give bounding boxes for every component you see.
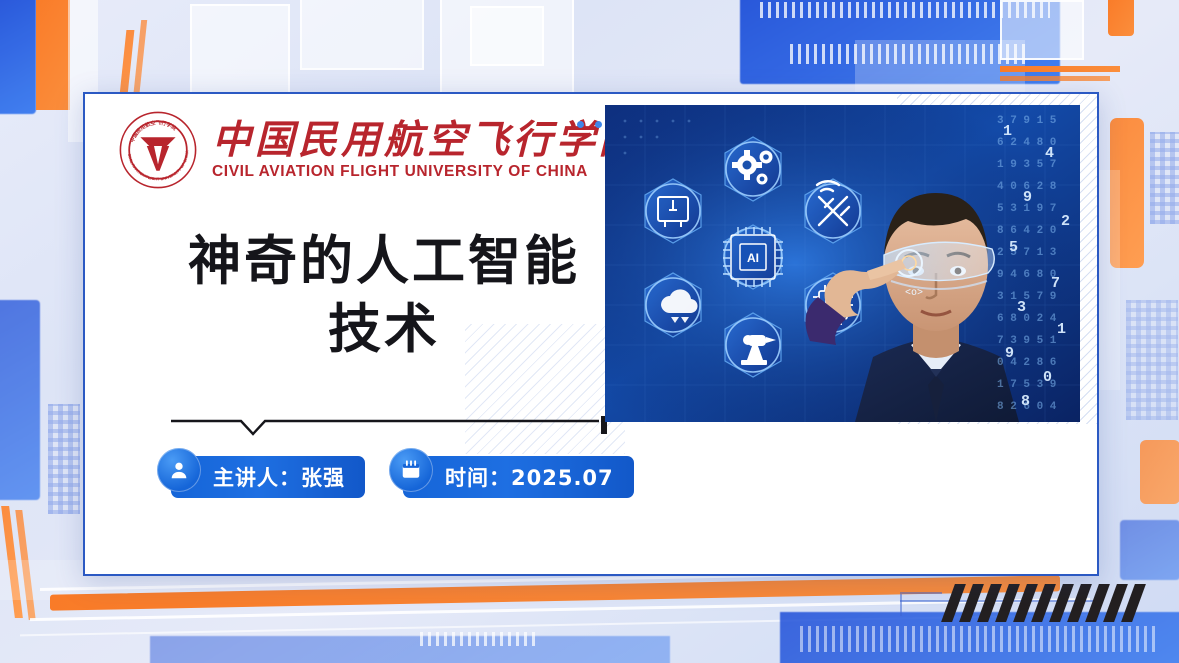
bg-block bbox=[0, 300, 40, 500]
svg-text:9: 9 bbox=[1023, 189, 1032, 206]
svg-text:5: 5 bbox=[1009, 239, 1018, 256]
university-logo-row: 1956 中国民用航空飞行学院 CIVIL AVIATION FLIGHT UN… bbox=[118, 110, 642, 190]
bg-pads bbox=[800, 626, 1160, 652]
info-badges: 主讲人：张强 时间：2025.07 bbox=[171, 456, 634, 498]
hero-image: AI bbox=[605, 105, 1080, 422]
bg-block bbox=[1108, 0, 1134, 36]
svg-text:8 6 4 2 0: 8 6 4 2 0 bbox=[997, 225, 1056, 237]
ai-chip-label: AI bbox=[747, 251, 759, 265]
bg-block bbox=[36, 0, 70, 110]
svg-text:3: 3 bbox=[1017, 299, 1026, 316]
svg-text:4: 4 bbox=[1045, 145, 1054, 162]
university-name-en: CIVIL AVIATION FLIGHT UNIVERSITY OF CHIN… bbox=[212, 163, 642, 181]
title-divider bbox=[171, 416, 611, 438]
bg-pads bbox=[420, 632, 540, 646]
bg-block bbox=[1000, 0, 1084, 60]
svg-text:1: 1 bbox=[1057, 321, 1066, 338]
svg-text:6 8 0 2 4: 6 8 0 2 4 bbox=[997, 313, 1057, 325]
date-label: 时间：2025.07 bbox=[445, 462, 614, 492]
bg-pads bbox=[1150, 132, 1179, 224]
page-title: 神奇的人工智能 技术 bbox=[185, 228, 583, 364]
svg-text:9 4 6 8 0: 9 4 6 8 0 bbox=[997, 269, 1056, 281]
speaker-badge[interactable]: 主讲人：张强 bbox=[171, 456, 365, 498]
speaker-label: 主讲人：张强 bbox=[213, 462, 345, 492]
calendar-icon bbox=[389, 448, 433, 492]
bg-block bbox=[470, 6, 544, 66]
dot-decor bbox=[577, 121, 602, 128]
svg-text:<o>: <o> bbox=[905, 288, 923, 299]
bg-block bbox=[300, 0, 424, 70]
bg-pads bbox=[1126, 300, 1178, 420]
svg-text:9: 9 bbox=[1005, 345, 1014, 362]
stripe-decor-corner bbox=[941, 584, 1146, 622]
svg-text:3 1 5 7 9: 3 1 5 7 9 bbox=[997, 291, 1056, 303]
svg-text:2 5 7 1 3: 2 5 7 1 3 bbox=[997, 247, 1057, 259]
svg-text:2: 2 bbox=[1061, 213, 1070, 230]
bg-block bbox=[1140, 440, 1179, 504]
university-name-block: 中国民用航空飞行学院 CIVIL AVIATION FLIGHT UNIVERS… bbox=[212, 119, 642, 180]
svg-text:0: 0 bbox=[1043, 369, 1052, 386]
date-badge[interactable]: 时间：2025.07 bbox=[403, 456, 634, 498]
title-line-2: 技术 bbox=[185, 296, 583, 364]
bg-trace bbox=[1000, 66, 1120, 72]
bg-block bbox=[0, 0, 36, 114]
slide-card: 1956 中国民用航空飞行学院 CIVIL AVIATION FLIGHT UN… bbox=[83, 92, 1099, 576]
university-seal-icon: 1956 中国民用航空飞行学院 CIVIL AVIATION FLIGHT UN… bbox=[118, 110, 198, 190]
bg-block bbox=[1120, 520, 1179, 580]
svg-text:8: 8 bbox=[1021, 393, 1030, 410]
person-icon bbox=[157, 448, 201, 492]
svg-text:1: 1 bbox=[1003, 123, 1012, 140]
bg-line bbox=[900, 592, 942, 616]
bg-pads bbox=[48, 404, 80, 514]
title-line-1: 神奇的人工智能 bbox=[185, 228, 583, 296]
bg-block bbox=[190, 4, 290, 94]
bg-circuit-panel bbox=[150, 636, 670, 663]
svg-text:7: 7 bbox=[1051, 275, 1060, 292]
bg-trace bbox=[1000, 76, 1110, 81]
